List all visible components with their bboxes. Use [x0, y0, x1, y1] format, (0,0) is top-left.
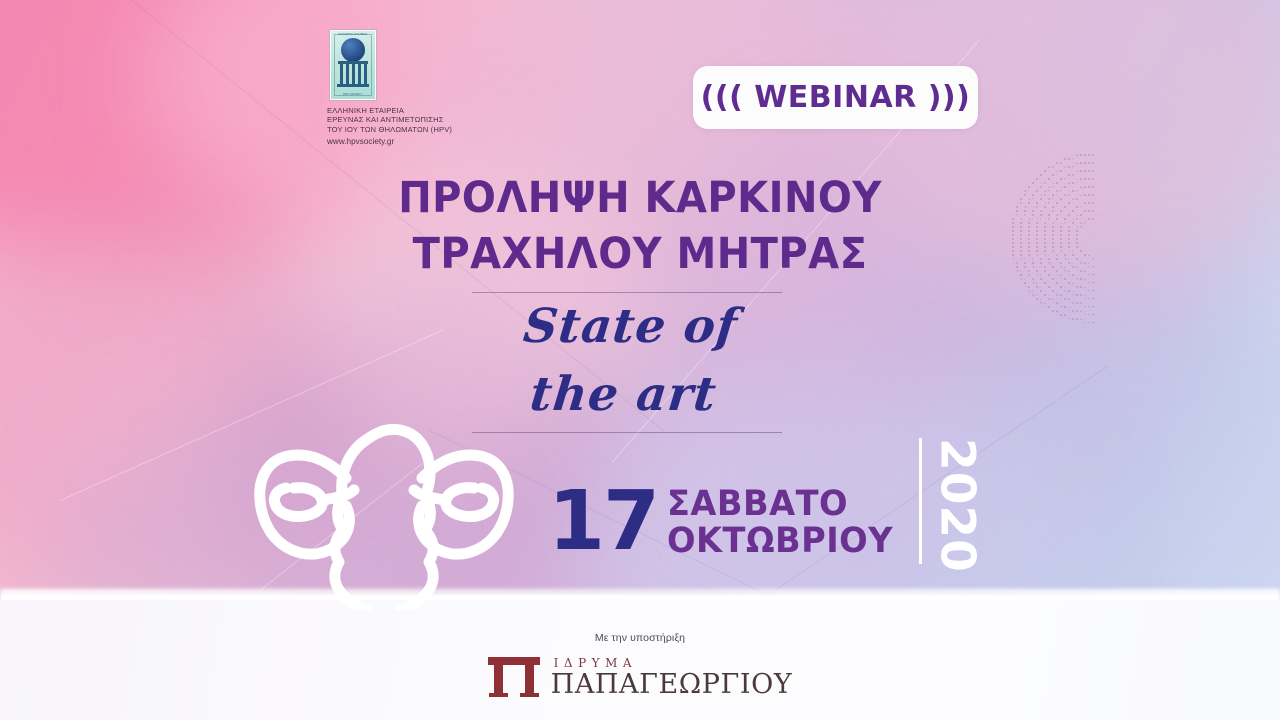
sponsor-line-1: ΙΔΡΥΜΑ [551, 656, 793, 670]
webinar-badge-label: ((( WEBINAR ))) [701, 80, 971, 115]
page-title: ΠΡΟΛΗΨΗ ΚΑΡΚΙΝΟΥ ΤΡΑΧΗΛΟΥ ΜΗΤΡΑΣ [0, 170, 1280, 282]
date-divider [919, 438, 922, 564]
date-weekday: ΣΑΒΒΑΤΟ [667, 486, 893, 523]
papageorgiou-pi-monogram-icon [488, 657, 540, 697]
stamp-bottom-micro-text: HPV SOCIETY [331, 93, 375, 96]
stamp-top-micro-text: ΕΛΛΗΝΙΚΗ ΕΤΑΙΡΕΙΑ [331, 33, 375, 36]
title-line-1: ΠΡΟΛΗΨΗ ΚΑΡΚΙΝΟΥ [45, 170, 1235, 226]
society-website-url[interactable]: www.hpvsociety.gr [327, 137, 467, 146]
uterus-line-art-icon [224, 378, 544, 610]
date-day: 17 [548, 482, 658, 562]
event-date-block: 17 ΣΑΒΒΑΤΟ ΟΚΤΩΒΡΙΟΥ 2020 [548, 482, 981, 582]
date-month: ΟΚΤΩΒΡΙΟΥ [667, 523, 893, 560]
society-line-2: ΕΡΕΥΝΑΣ ΚΑΙ ΑΝΤΙΜΕΤΩΠΙΣΗΣ [327, 115, 467, 124]
hpv-society-stamp-logo-icon: ΕΛΛΗΝΙΚΗ ΕΤΑΙΡΕΙΑ HPV SOCIETY [330, 30, 376, 100]
date-year: 2020 [934, 438, 981, 573]
title-line-2: ΤΡΑΧΗΛΟΥ ΜΗΤΡΑΣ [45, 226, 1235, 282]
society-logo-block: ΕΛΛΗΝΙΚΗ ΕΤΑΙΡΕΙΑ HPV SOCIETY ΕΛΛΗΝΙΚΗ Ε… [327, 30, 467, 146]
webinar-poster: ΕΛΛΗΝΙΚΗ ΕΤΑΙΡΕΙΑ HPV SOCIETY ΕΛΛΗΝΙΚΗ Ε… [0, 0, 1280, 720]
society-line-1: ΕΛΛΗΝΙΚΗ ΕΤΑΙΡΕΙΑ [327, 106, 467, 115]
webinar-badge: ((( WEBINAR ))) [693, 66, 978, 129]
support-label: Με την υποστήριξη [0, 632, 1280, 644]
sponsor-logo: ΙΔΡΥΜΑ ΠΑΠΑΓΕΩΡΓΙΟΥ [488, 656, 793, 699]
sponsor-line-2: ΠΑΠΑΓΕΩΡΓΙΟΥ [551, 670, 793, 699]
society-line-3: ΤΟΥ ΙΟΥ ΤΩΝ ΘΗΛΩΜΑΤΩΝ (HPV) [327, 125, 467, 134]
footer: Με την υποστήριξη ΙΔΡΥΜΑ ΠΑΠΑΓΕΩΡΓΙΟΥ [0, 632, 1280, 703]
date-year-wrap: 2020 [934, 440, 981, 570]
